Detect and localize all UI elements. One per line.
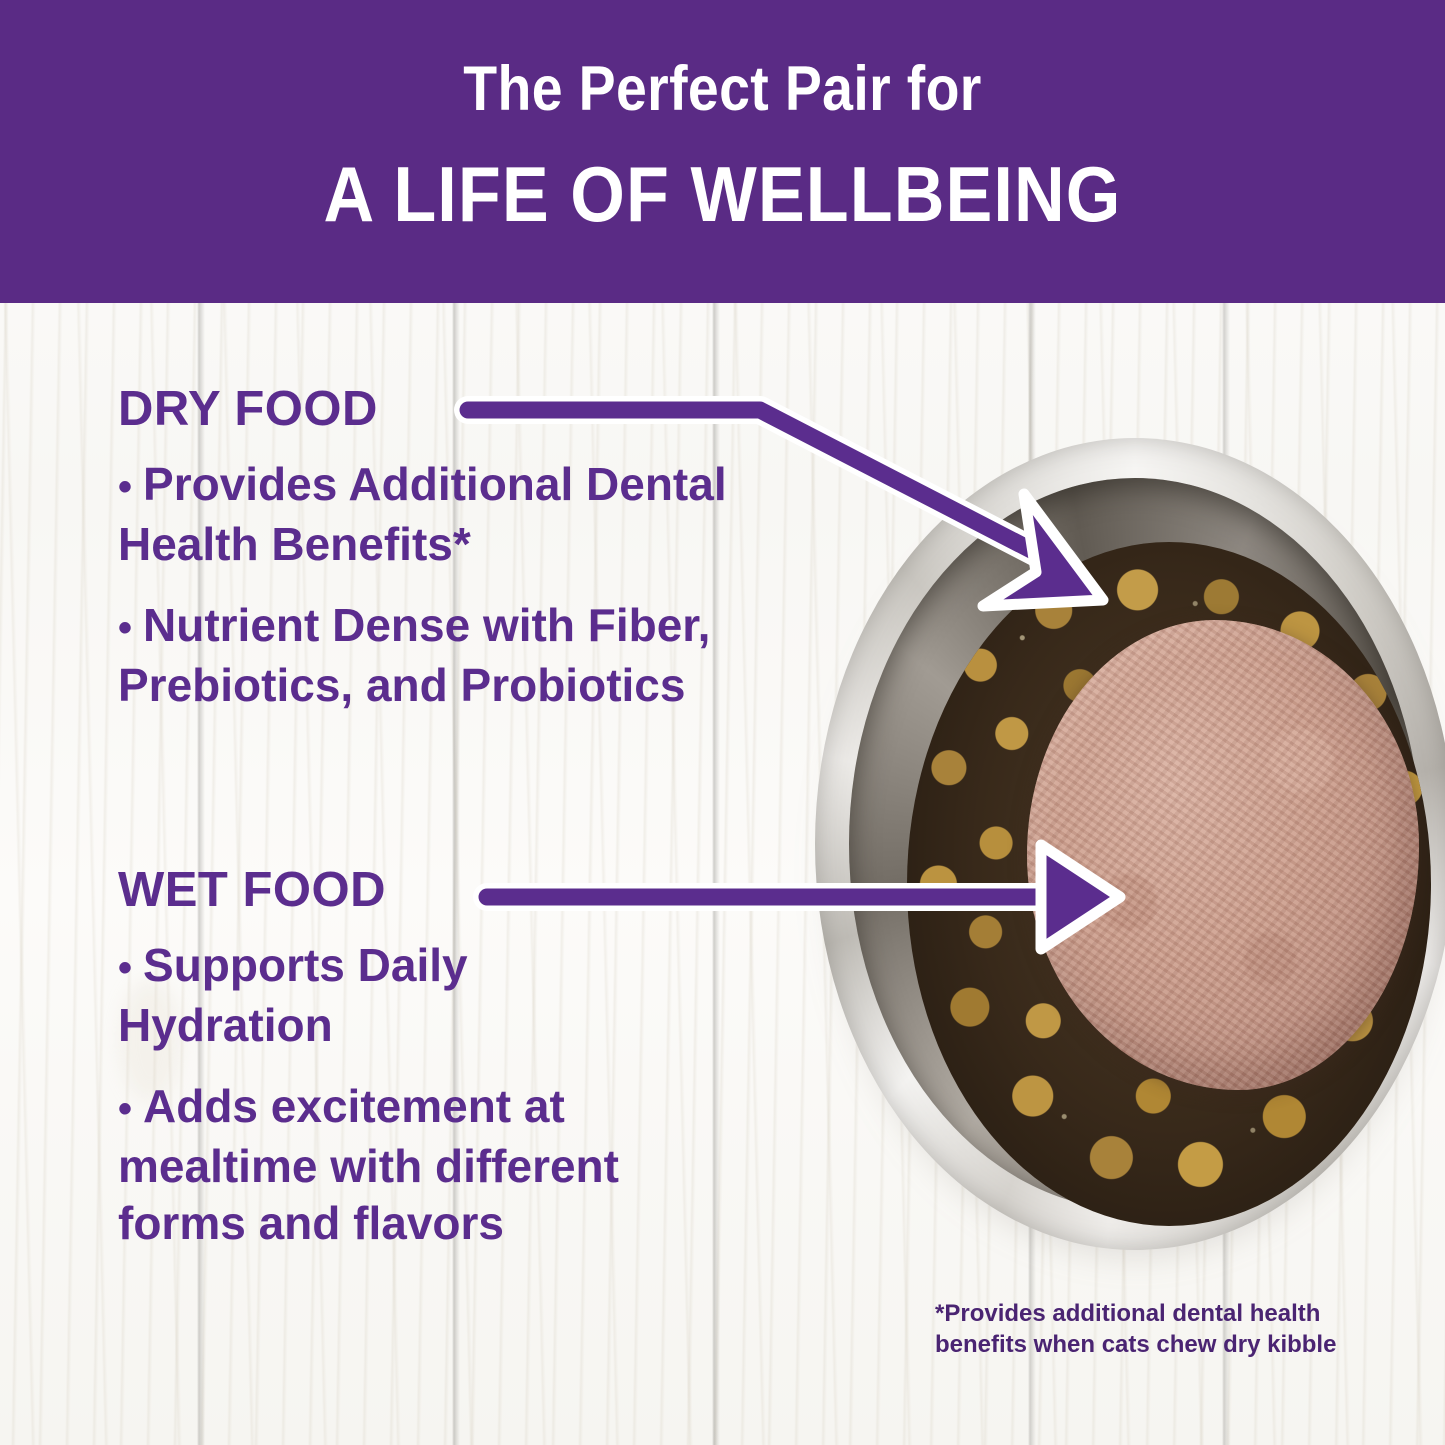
header-title-line1: The Perfect Pair for [87, 52, 1359, 126]
list-item-text: Supports Daily Hydration [118, 939, 468, 1051]
header-title-line2: A LIFE OF WELLBEING [72, 148, 1373, 240]
section-heading-wet-food: WET FOOD [118, 862, 648, 918]
section-wet-food: WET FOOD •Supports Daily Hydration •Adds… [118, 862, 648, 1276]
promo-infographic: The Perfect Pair for A LIFE OF WELLBEING… [0, 0, 1445, 1445]
bullet-dot-icon: • [118, 465, 132, 509]
list-item: •Supports Daily Hydration [118, 937, 618, 1054]
section-dry-food: DRY FOOD •Provides Additional Dental Hea… [118, 381, 738, 738]
cat-food-bowl-image [815, 438, 1445, 1250]
section-heading-dry-food: DRY FOOD [118, 381, 738, 437]
header-banner: The Perfect Pair for A LIFE OF WELLBEING [0, 0, 1445, 303]
list-item: •Adds excitement at mealtime with differ… [118, 1078, 648, 1252]
bowl-outer-rim [815, 438, 1445, 1250]
list-item: •Nutrient Dense with Fiber, Prebiotics, … [118, 597, 738, 714]
footnote-text: *Provides additional dental health benef… [935, 1298, 1355, 1360]
bullet-list-dry-food: •Provides Additional Dental Health Benef… [118, 456, 738, 714]
list-item: •Provides Additional Dental Health Benef… [118, 456, 738, 573]
bullet-dot-icon: • [118, 606, 132, 650]
bowl-cavity [907, 542, 1431, 1226]
list-item-text: Adds excitement at mealtime with differe… [118, 1080, 619, 1249]
bullet-list-wet-food: •Supports Daily Hydration •Adds exciteme… [118, 937, 648, 1252]
list-item-text: Provides Additional Dental Health Benefi… [118, 458, 727, 570]
bowl-inner-rim [849, 478, 1421, 1210]
list-item-text: Nutrient Dense with Fiber, Prebiotics, a… [118, 599, 710, 711]
bullet-dot-icon: • [118, 1087, 132, 1131]
bullet-dot-icon: • [118, 946, 132, 990]
